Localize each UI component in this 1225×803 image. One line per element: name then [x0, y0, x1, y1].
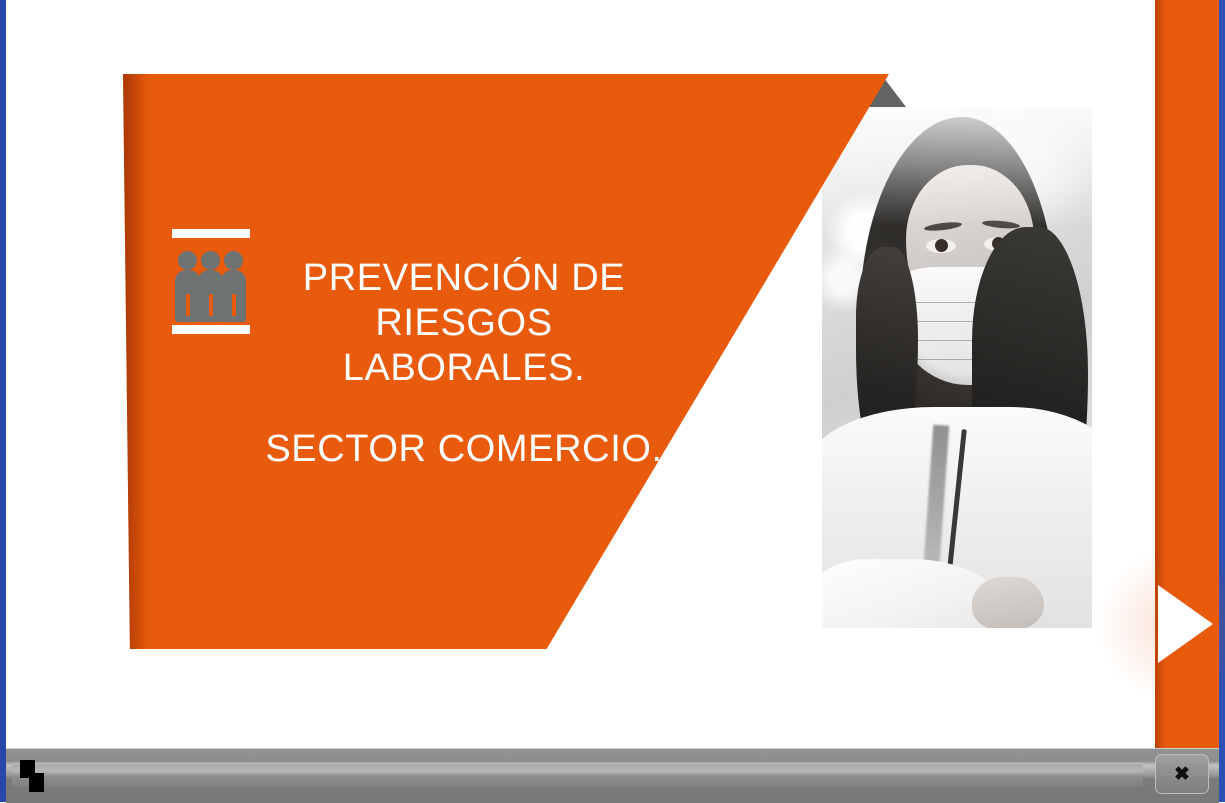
photo-pupil-left	[935, 239, 948, 252]
icon-head-1	[178, 251, 197, 270]
icon-leg-gap-2	[209, 294, 213, 316]
player-toolbar	[6, 748, 1219, 803]
icon-leg-gap-1	[186, 294, 190, 316]
slide-photo	[822, 107, 1092, 628]
people-group-icon	[172, 229, 250, 334]
photo-top-highlight	[822, 107, 1092, 227]
slide-title-secondary: SECTOR COMERCIO.	[264, 427, 664, 472]
icon-head-2	[201, 251, 220, 270]
presentation-viewer: PREVENCIÓN DE RIESGOS LABORALES. SECTOR …	[0, 0, 1225, 802]
slide-title-primary: PREVENCIÓN DE RIESGOS LABORALES.	[264, 256, 664, 390]
play-triangle-icon[interactable]	[1158, 585, 1213, 663]
icon-head-3	[224, 251, 243, 270]
cursor-part-lower	[29, 773, 44, 792]
slide-canvas: PREVENCIÓN DE RIESGOS LABORALES. SECTOR …	[6, 0, 1155, 748]
icon-bar-bottom	[172, 325, 250, 334]
right-blue-rail	[1219, 0, 1225, 802]
icon-leg-gap-3	[232, 294, 236, 316]
panel-edge-shadow	[123, 74, 149, 649]
seek-bar[interactable]	[12, 763, 1143, 787]
close-button[interactable]: ✖	[1155, 754, 1209, 794]
pointer-cursor-icon	[20, 760, 44, 792]
photo-hand	[972, 577, 1044, 628]
icon-bar-top	[172, 229, 250, 238]
